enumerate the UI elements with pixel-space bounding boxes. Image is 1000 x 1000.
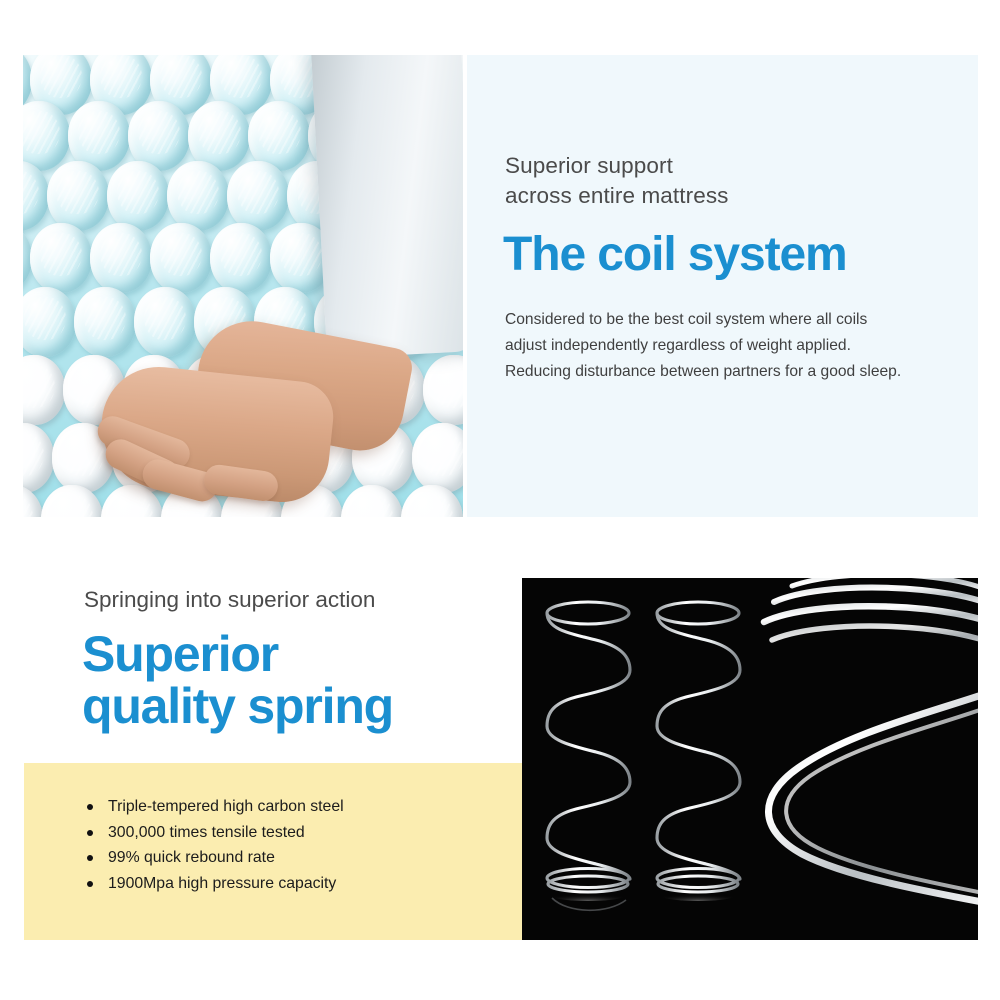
coil-system-title: The coil system (503, 227, 963, 283)
list-item: Triple-tempered high carbon steel (85, 794, 344, 820)
spring-title-line2: quality spring (82, 680, 542, 732)
coil-system-body: Considered to be the best coil system wh… (505, 307, 905, 385)
spring-features-list: Triple-tempered high carbon steel 300,00… (85, 794, 344, 896)
spring-photo (522, 578, 978, 940)
sleeve (311, 55, 463, 359)
coil-system-eyebrow-line1: Superior support (505, 151, 935, 181)
coil-system-eyebrow: Superior support across entire mattress (505, 151, 935, 211)
coil-system-eyebrow-line2: across entire mattress (505, 181, 935, 211)
list-item: 1900Mpa high pressure capacity (85, 871, 344, 897)
spring-eyebrow: Springing into superior action (84, 585, 514, 615)
marketing-infographic: Superior support across entire mattress … (0, 0, 1000, 1000)
spring-features-panel: Triple-tempered high carbon steel 300,00… (24, 763, 522, 940)
list-item: 300,000 times tensile tested (85, 820, 344, 846)
spring-title: Superior quality spring (82, 628, 542, 732)
spring-title-line1: Superior (82, 628, 542, 680)
pocket-spring-photo (23, 55, 463, 517)
list-item: 99% quick rebound rate (85, 845, 344, 871)
coil-reflection (552, 891, 624, 901)
coil-reflection (662, 891, 734, 901)
spring-coils-graphic (522, 578, 978, 940)
coil-system-panel: Superior support across entire mattress … (467, 55, 978, 517)
